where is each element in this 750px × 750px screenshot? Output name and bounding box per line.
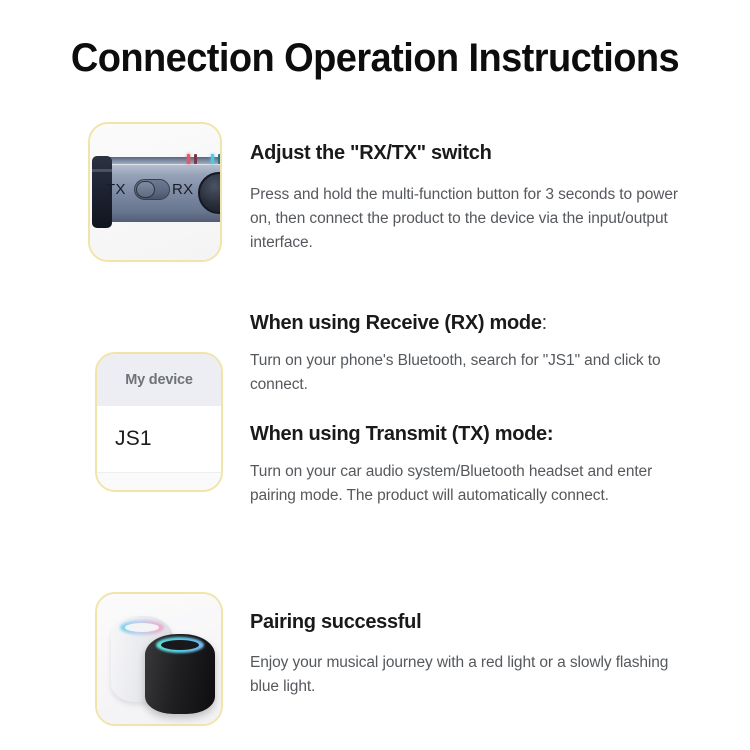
pairing-success-heading: Pairing successful <box>250 610 670 634</box>
receive-mode-body: Turn on your phone's Bluetooth, search f… <box>250 349 710 397</box>
white-speaker-top-surface <box>125 623 159 632</box>
adjust-switch-heading: Adjust the "RX/TX" switch <box>250 141 690 165</box>
receive-mode-heading: When using Receive (RX) mode: <box>250 311 710 335</box>
speakers-image-card <box>95 592 223 726</box>
toggle-knob <box>136 181 155 198</box>
bluetooth-adapter-photo: TX RX <box>90 124 220 260</box>
adapter-label-tx: TX <box>106 181 126 198</box>
device-list-header: My device <box>97 354 221 406</box>
txrx-toggle-switch[interactable] <box>134 179 170 200</box>
device-list-header-label: My device <box>125 372 193 388</box>
transmit-mode-body: Turn on your car audio system/Bluetooth … <box>250 460 690 508</box>
adjust-switch-body: Press and hold the multi-function button… <box>250 183 690 255</box>
transmit-mode-heading: When using Transmit (TX) mode: <box>250 422 690 446</box>
receive-mode-heading-text: When using Receive (RX) mode <box>250 312 542 334</box>
page-title: Connection Operation Instructions <box>19 36 732 81</box>
adapter-label-rx: RX <box>172 181 193 198</box>
black-speaker <box>145 634 215 714</box>
device-list-row[interactable]: JS1 <box>97 406 221 472</box>
receive-mode-heading-colon: : <box>542 312 547 334</box>
led-red-indicator <box>187 154 190 164</box>
instruction-page: Connection Operation Instructions TX RX … <box>0 0 750 750</box>
device-list-footer <box>97 472 221 492</box>
adapter-cap-highlight <box>92 169 112 172</box>
transmit-mode-text-block: When using Transmit (TX) mode: Turn on y… <box>250 422 690 508</box>
smart-speakers-photo <box>97 594 221 724</box>
device-list-image-card: My device JS1 <box>95 352 223 492</box>
adapter-image-card: TX RX <box>88 122 222 262</box>
device-name-label: JS1 <box>115 427 152 451</box>
pairing-success-body: Enjoy your musical journey with a red li… <box>250 651 670 699</box>
adjust-switch-text-block: Adjust the "RX/TX" switch Press and hold… <box>250 141 690 255</box>
black-speaker-top-surface <box>161 640 199 650</box>
receive-mode-text-block: When using Receive (RX) mode: Turn on yo… <box>250 311 710 397</box>
led-blue-indicator <box>211 154 214 164</box>
led-red-shadow <box>194 154 197 164</box>
pairing-success-text-block: Pairing successful Enjoy your musical jo… <box>250 610 670 699</box>
led-blue-shadow <box>218 154 221 164</box>
